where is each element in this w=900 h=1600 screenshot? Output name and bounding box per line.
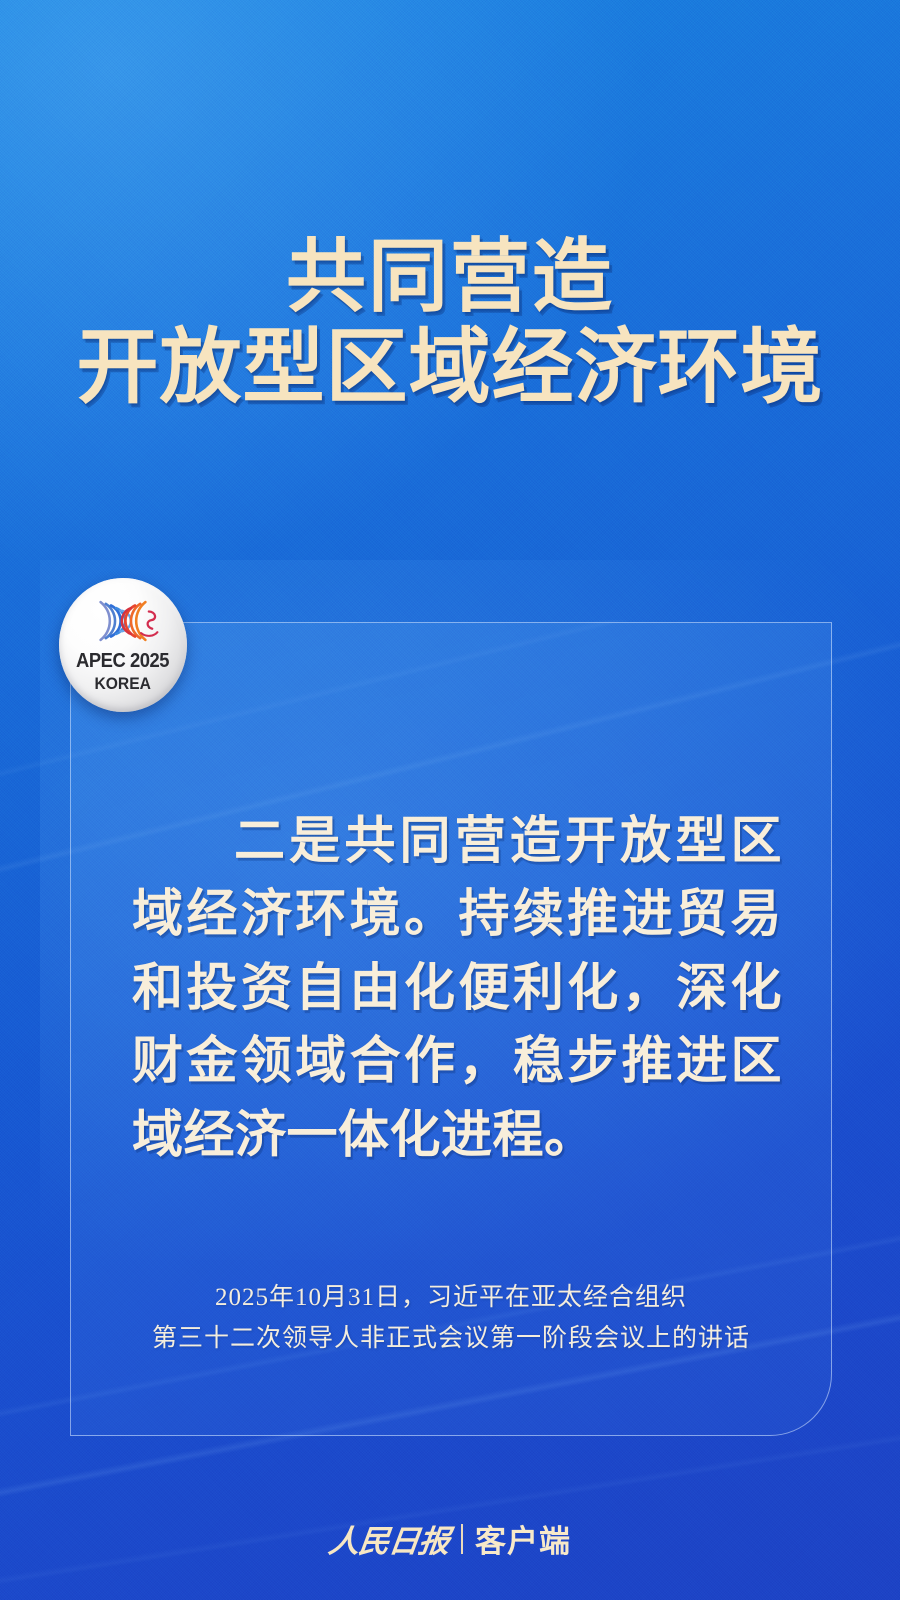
footer-brand: 人民日报 客户端: [0, 1516, 900, 1561]
attribution-line-2: 第三十二次领导人非正式会议第一阶段会议上的讲话: [70, 1319, 832, 1360]
poster-canvas: 共同营造 开放型区域经济环境 APEC 2025: [0, 0, 900, 1600]
apec-badge-country: KOREA: [95, 675, 151, 692]
apec-logo-badge: APEC 2025 KOREA: [59, 578, 187, 712]
title-line-1: 共同营造: [0, 236, 900, 321]
apec-badge-word: APEC 2025: [76, 651, 169, 671]
quote-body-text: 二是共同营造开放型区域经济环境。持续推进贸易和投资自由化便利化，深化财金领域合作…: [132, 806, 782, 1173]
attribution-line-1: 2025年10月31日，习近平在亚太经合组织: [70, 1278, 832, 1319]
brand-divider: [461, 1524, 463, 1554]
brand-app-name: 客户端: [475, 1516, 571, 1561]
title-line-2: 开放型区域经济环境: [0, 325, 900, 412]
page-title: 共同营造 开放型区域经济环境: [0, 236, 900, 412]
quote-attribution: 2025年10月31日，习近平在亚太经合组织 第三十二次领导人非正式会议第一阶段…: [70, 1278, 832, 1359]
brand-name-peoples-daily: 人民日报: [326, 1516, 452, 1561]
apec-arcs-icon: [80, 593, 166, 649]
